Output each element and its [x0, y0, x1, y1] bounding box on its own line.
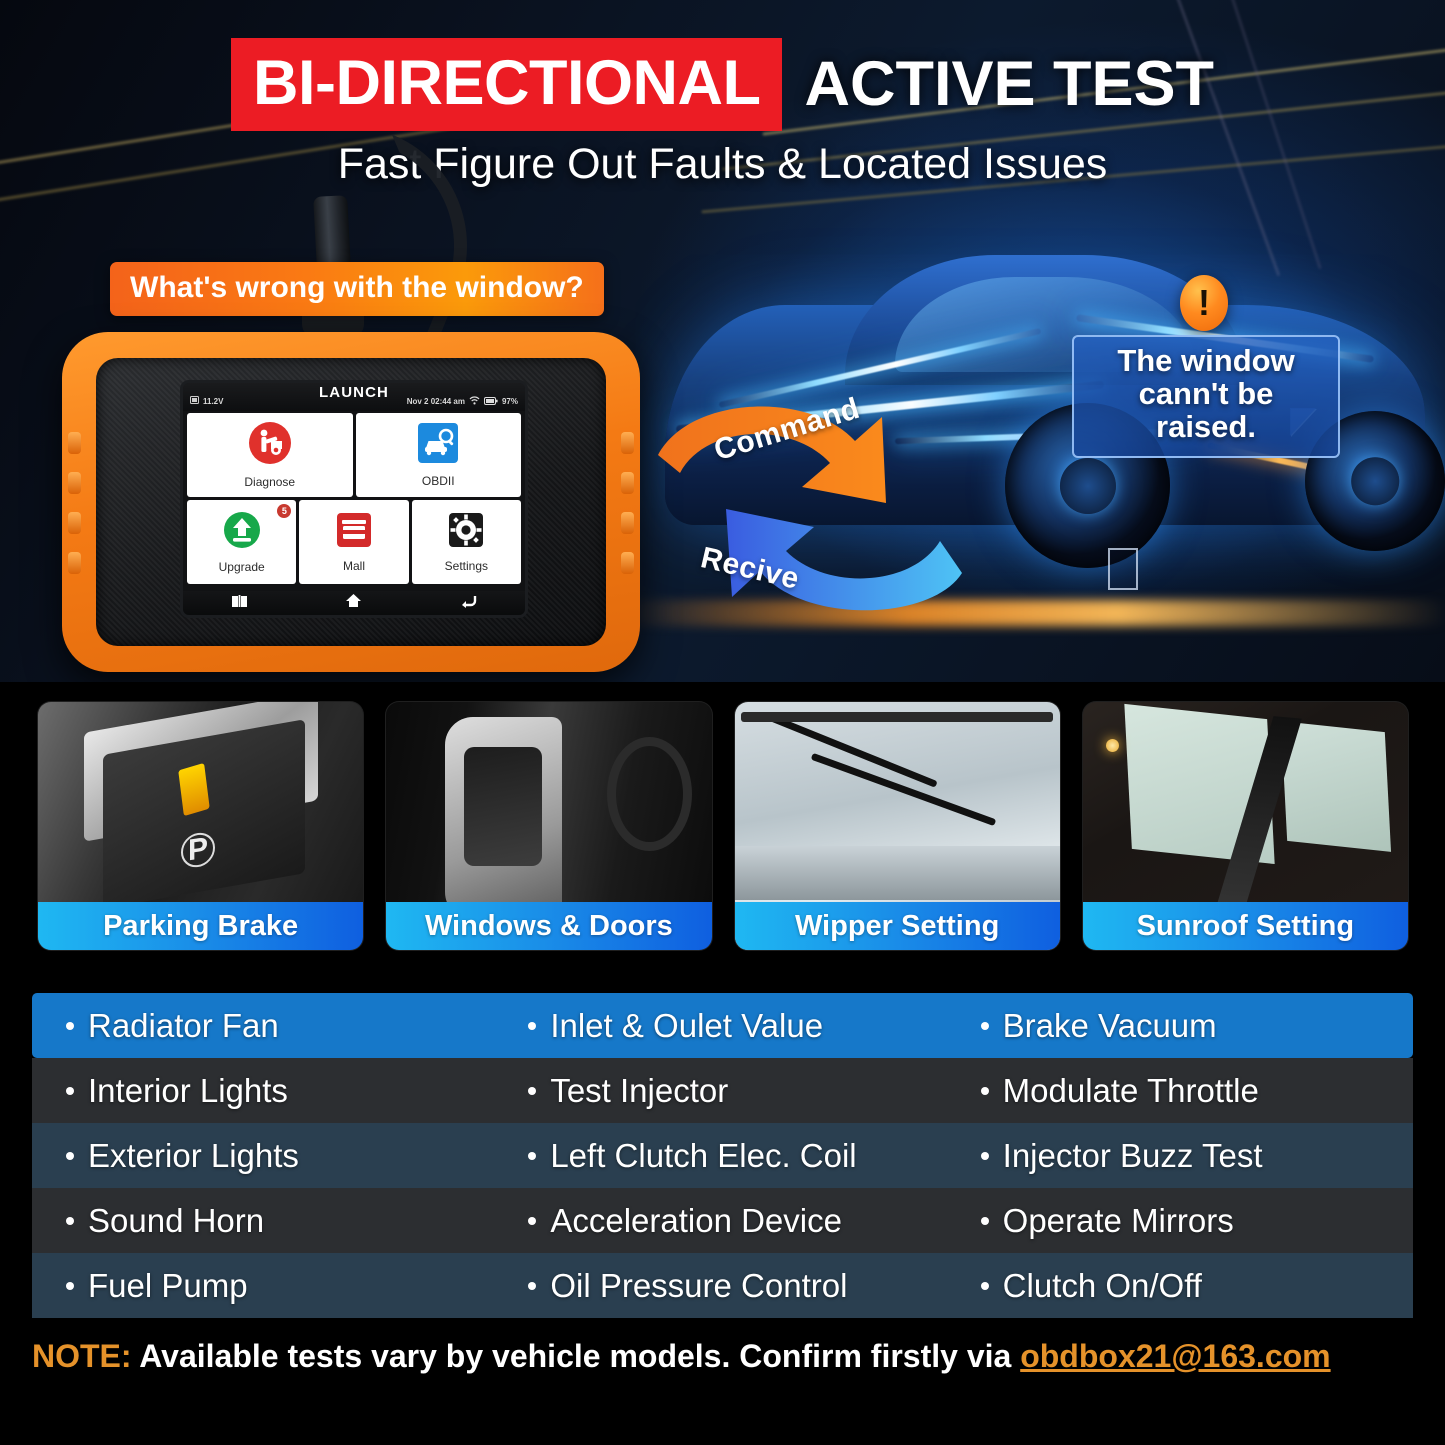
title-highlight: BI-DIRECTIONAL — [231, 38, 782, 131]
upgrade-badge: 5 — [277, 504, 291, 518]
table-cell: Injector Buzz Test — [953, 1137, 1413, 1175]
status-datetime: Nov 2 02:44 am — [407, 397, 465, 406]
cell-text: Oil Pressure Control — [550, 1267, 847, 1305]
back-icon[interactable] — [459, 594, 477, 613]
status-bar-left: 11.2V — [190, 396, 223, 406]
warning-exclamation-icon: ! — [1180, 275, 1228, 331]
table-cell: Acceleration Device — [492, 1202, 952, 1240]
card-label: Windows & Doors — [386, 902, 711, 950]
bullet-icon — [981, 1152, 989, 1160]
launch-diagnostic-tablet: LAUNCH 11.2V Nov 2 02:44 am — [62, 332, 640, 672]
case-grip-nub — [68, 552, 81, 574]
bullet-icon — [66, 1022, 74, 1030]
card-label: Wipper Setting — [735, 902, 1060, 950]
app-tile-settings[interactable]: Settings — [412, 500, 521, 584]
table-row: Interior Lights Test Injector Modulate T… — [32, 1058, 1413, 1123]
cell-text: Inlet & Oulet Value — [550, 1007, 823, 1045]
bullet-icon — [66, 1217, 74, 1225]
bullet-icon — [66, 1152, 74, 1160]
cell-text: Fuel Pump — [88, 1267, 248, 1305]
table-cell: Test Injector — [492, 1072, 952, 1110]
table-cell: Sound Horn — [32, 1202, 492, 1240]
cell-text: Brake Vacuum — [1003, 1007, 1217, 1045]
title-rest: ACTIVE TEST — [804, 53, 1214, 116]
app-tile-diagnose[interactable]: Diagnose — [187, 413, 353, 497]
upgrade-arrow-icon — [222, 510, 262, 555]
case-grip-nub — [621, 432, 634, 454]
table-row: Fuel Pump Oil Pressure Control Clutch On… — [32, 1253, 1413, 1318]
note-body: Available tests vary by vehicle models. … — [139, 1338, 1011, 1374]
cell-text: Sound Horn — [88, 1202, 264, 1240]
cell-text: Radiator Fan — [88, 1007, 279, 1045]
cell-text: Left Clutch Elec. Coil — [550, 1137, 856, 1175]
battery-percent: 97% — [502, 397, 518, 406]
card-label: Parking Brake — [38, 902, 363, 950]
table-cell: Fuel Pump — [32, 1267, 492, 1305]
table-cell: Inlet & Oulet Value — [492, 1007, 952, 1045]
gear-icon — [447, 511, 485, 554]
hero-section: BI-DIRECTIONAL ACTIVE TEST Fast Figure O… — [0, 0, 1445, 682]
app-label: Upgrade — [219, 560, 265, 574]
promo-page: BI-DIRECTIONAL ACTIVE TEST Fast Figure O… — [0, 0, 1445, 1445]
bullet-icon — [981, 1217, 989, 1225]
status-bar-right: Nov 2 02:44 am 97% — [407, 396, 518, 407]
app-label: Diagnose — [244, 475, 295, 489]
shop-icon — [335, 511, 373, 554]
table-row: Sound Horn Acceleration Device Operate M… — [32, 1188, 1413, 1253]
table-cell: Exterior Lights — [32, 1137, 492, 1175]
bullet-icon — [66, 1087, 74, 1095]
footer-note: NOTE: Available tests vary by vehicle mo… — [32, 1338, 1413, 1375]
cell-text: Operate Mirrors — [1003, 1202, 1234, 1240]
bubble-line-1: The window — [1086, 345, 1326, 378]
question-banner: What's wrong with the window? — [110, 262, 604, 316]
bullet-icon — [981, 1022, 989, 1030]
card-parking-brake[interactable]: P Parking Brake — [38, 702, 363, 950]
cell-text: Acceleration Device — [550, 1202, 842, 1240]
table-cell: Left Clutch Elec. Coil — [492, 1137, 952, 1175]
app-grid: Diagnose — [187, 413, 521, 584]
case-grip-nub — [621, 512, 634, 534]
cell-text: Modulate Throttle — [1003, 1072, 1259, 1110]
cell-text: Exterior Lights — [88, 1137, 299, 1175]
cell-text: Injector Buzz Test — [1003, 1137, 1263, 1175]
case-grip-nub — [621, 552, 634, 574]
cell-text: Interior Lights — [88, 1072, 288, 1110]
bullet-icon — [981, 1087, 989, 1095]
card-sunroof-setting[interactable]: Sunroof Setting — [1083, 702, 1408, 950]
cell-text: Test Injector — [550, 1072, 728, 1110]
table-cell: Operate Mirrors — [953, 1202, 1413, 1240]
card-wipper-setting[interactable]: Wipper Setting — [735, 702, 1060, 950]
case-grip-nub — [68, 432, 81, 454]
app-label: OBDII — [422, 474, 455, 488]
obdii-car-scan-icon — [417, 422, 459, 469]
cell-text: Clutch On/Off — [1003, 1267, 1202, 1305]
app-tile-obdii[interactable]: OBDII — [356, 413, 522, 497]
window-alert-bubble: The window cann't be raised. — [1072, 335, 1340, 458]
bullet-icon — [66, 1282, 74, 1290]
wifi-icon — [469, 396, 480, 407]
table-cell: Radiator Fan — [32, 1007, 492, 1045]
card-windows-doors[interactable]: Windows & Doors — [386, 702, 711, 950]
table-cell: Clutch On/Off — [953, 1267, 1413, 1305]
case-grip-nub — [621, 472, 634, 494]
contact-email-link[interactable]: obdbox21@163.com — [1020, 1338, 1330, 1374]
page-title: BI-DIRECTIONAL ACTIVE TEST — [0, 38, 1445, 131]
diagnose-icon — [248, 421, 292, 470]
table-cell: Oil Pressure Control — [492, 1267, 952, 1305]
app-tile-mall[interactable]: Mall — [299, 500, 408, 584]
supported-tests-table: Radiator Fan Inlet & Oulet Value Brake V… — [32, 993, 1413, 1318]
bullet-icon — [528, 1022, 536, 1030]
tablet-navbar — [183, 591, 525, 615]
page-subtitle: Fast Figure Out Faults & Located Issues — [0, 140, 1445, 189]
bullet-icon — [528, 1087, 536, 1095]
table-cell: Brake Vacuum — [953, 1007, 1413, 1045]
bullet-icon — [981, 1282, 989, 1290]
table-cell: Modulate Throttle — [953, 1072, 1413, 1110]
app-label: Mall — [343, 559, 365, 573]
status-bar: LAUNCH 11.2V Nov 2 02:44 am — [183, 383, 525, 411]
home-icon[interactable] — [345, 593, 362, 613]
table-row: Radiator Fan Inlet & Oulet Value Brake V… — [32, 993, 1413, 1058]
battery-icon — [190, 396, 199, 406]
window-highlight-rect — [1108, 548, 1138, 590]
card-label: Sunroof Setting — [1083, 902, 1408, 950]
voltage-reading: 11.2V — [203, 397, 223, 406]
book-icon[interactable] — [231, 594, 248, 613]
battery-level-icon — [484, 397, 498, 407]
table-cell: Interior Lights — [32, 1072, 492, 1110]
bullet-icon — [528, 1217, 536, 1225]
table-row: Exterior Lights Left Clutch Elec. Coil I… — [32, 1123, 1413, 1188]
tablet-screen[interactable]: LAUNCH 11.2V Nov 2 02:44 am — [180, 380, 528, 618]
case-grip-nub — [68, 472, 81, 494]
bubble-line-2: cann't be raised. — [1086, 378, 1326, 444]
note-lead: NOTE: — [32, 1338, 132, 1374]
bullet-icon — [528, 1282, 536, 1290]
app-tile-upgrade[interactable]: 5 Upgrade — [187, 500, 296, 584]
bullet-icon — [528, 1152, 536, 1160]
case-grip-nub — [68, 512, 81, 534]
feature-cards: P Parking Brake Windows & Doors Wipper S… — [38, 702, 1408, 950]
app-label: Settings — [445, 559, 488, 573]
